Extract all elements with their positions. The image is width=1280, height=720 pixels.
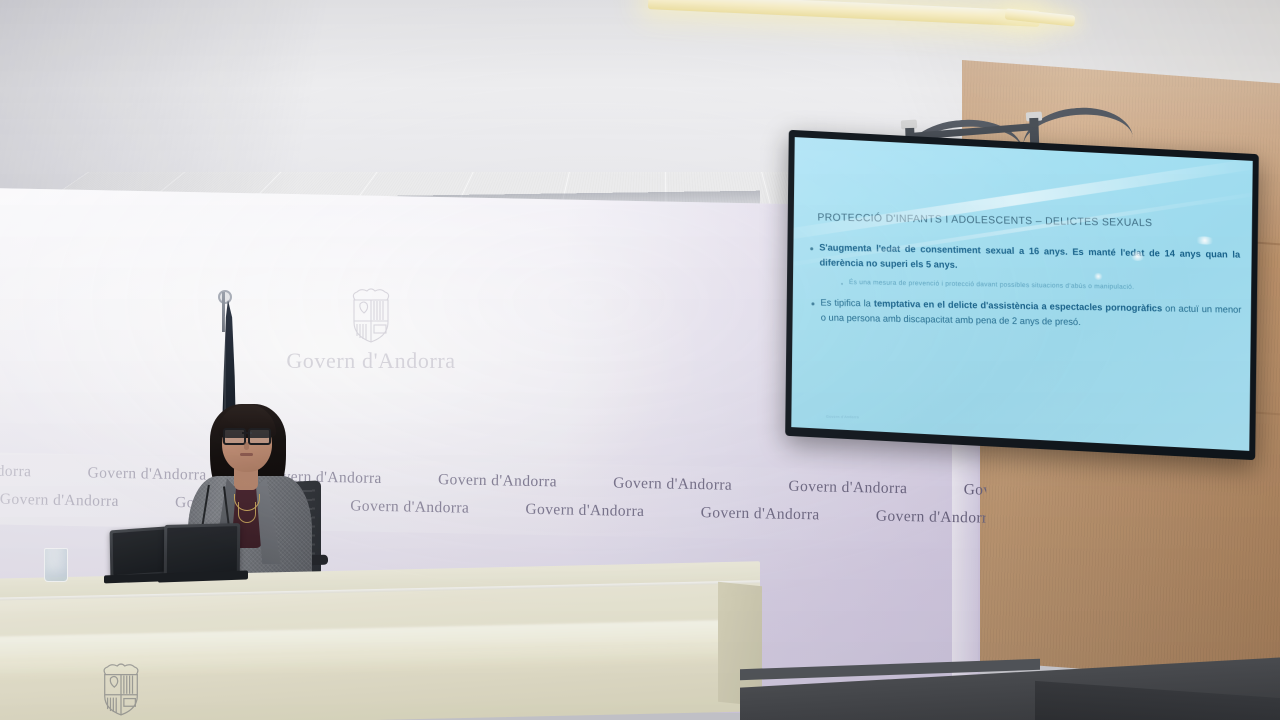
- nose: [244, 442, 249, 450]
- flag-finial: [218, 290, 232, 304]
- backdrop-logo-text: Govern d'Andorra: [268, 348, 474, 374]
- subbullet-text: És una mesura de prevenció i protecció d…: [849, 277, 1241, 295]
- slide-bullet-list: S'augmenta l'edat de consentiment sexual…: [810, 240, 1242, 338]
- slide-content: PROTECCIÓ D'INFANTS I ADOLESCENTS – DELI…: [791, 138, 1252, 436]
- slide-bullet-temptativa: Es tipifica la temptativa en el delicte …: [811, 295, 1242, 332]
- bullet-text-lead: Es tipifica la: [820, 297, 874, 308]
- bullet-text: Es tipifica la temptativa en el delicte …: [820, 295, 1242, 332]
- eyeglass-lens-right: [248, 428, 271, 445]
- mouth: [240, 453, 253, 456]
- slide-subbullet-mesura: És una mesura de prevenció i protecció d…: [841, 277, 1241, 295]
- necklace-pendant: [238, 502, 256, 523]
- press-conference-photo: Govern d'Andorra Govern d'Andorra Govern…: [0, 0, 1280, 720]
- eyeglass-lens-left: [223, 428, 246, 445]
- eyeglasses-icon: [223, 428, 271, 441]
- slide-bullet-consentiment: S'augmenta l'edat de consentiment sexual…: [810, 240, 1241, 277]
- slide-surface: PROTECCIÓ D'INFANTS I ADOLESCENTS – DELI…: [791, 137, 1252, 451]
- bullet-text: S'augmenta l'edat de consentiment sexual…: [819, 240, 1241, 277]
- podium-coat-of-arms-icon: [98, 660, 144, 718]
- presentation-screen[interactable]: PROTECCIÓ D'INFANTS I ADOLESCENTS – DELI…: [785, 130, 1259, 460]
- backdrop-logo: Govern d'Andorra: [268, 286, 474, 396]
- slide-footnote: Govern d'Andorra: [826, 415, 859, 420]
- bullet-marker-icon: [810, 247, 813, 250]
- bullet-text-bold: S'augmenta l'edat de consentiment sexual…: [819, 242, 1240, 269]
- bullet-text-bold: temptativa en el delicte d'assistència a…: [874, 298, 1163, 313]
- andorra-coat-of-arms-icon: [347, 286, 395, 344]
- water-glass: [44, 548, 68, 582]
- subbullet-marker-icon: [841, 283, 843, 285]
- bullet-marker-icon: [811, 302, 814, 305]
- laptop-screen: [167, 526, 237, 576]
- ceiling-shading-left: [0, 0, 420, 215]
- slide-title: PROTECCIÓ D'INFANTS I ADOLESCENTS – DELI…: [817, 212, 1237, 230]
